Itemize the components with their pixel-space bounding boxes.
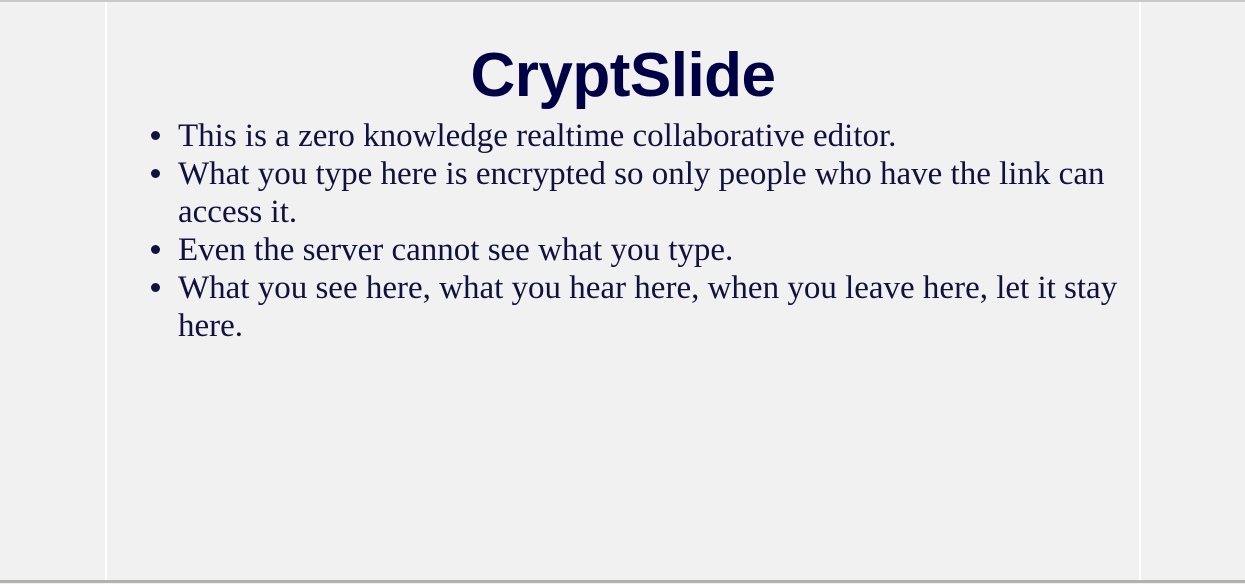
list-item-label: Even the server cannot see what you type… [178,231,1139,269]
bullet-dot-icon [151,283,160,292]
list-item-label: What you see here, what you hear here, w… [178,269,1139,345]
right-gutter-divider [1139,2,1141,580]
list-item[interactable]: Even the server cannot see what you type… [107,231,1139,269]
list-item-label: This is a zero knowledge realtime collab… [178,117,1139,155]
bullet-dot-icon [151,169,160,178]
bullet-dot-icon [151,245,160,254]
bullet-dot-icon [151,131,160,140]
slide-editor-page: CryptSlide This is a zero knowledge real… [0,0,1245,584]
bottom-border-divider [0,580,1245,583]
list-item[interactable]: This is a zero knowledge realtime collab… [107,117,1139,155]
list-item[interactable]: What you see here, what you hear here, w… [107,269,1139,345]
list-item[interactable]: What you type here is encrypted so only … [107,155,1139,231]
slide-canvas[interactable]: CryptSlide This is a zero knowledge real… [107,2,1139,580]
slide-bullet-list[interactable]: This is a zero knowledge realtime collab… [107,117,1139,345]
slide-title[interactable]: CryptSlide [107,40,1139,112]
list-item-label: What you type here is encrypted so only … [178,155,1139,231]
